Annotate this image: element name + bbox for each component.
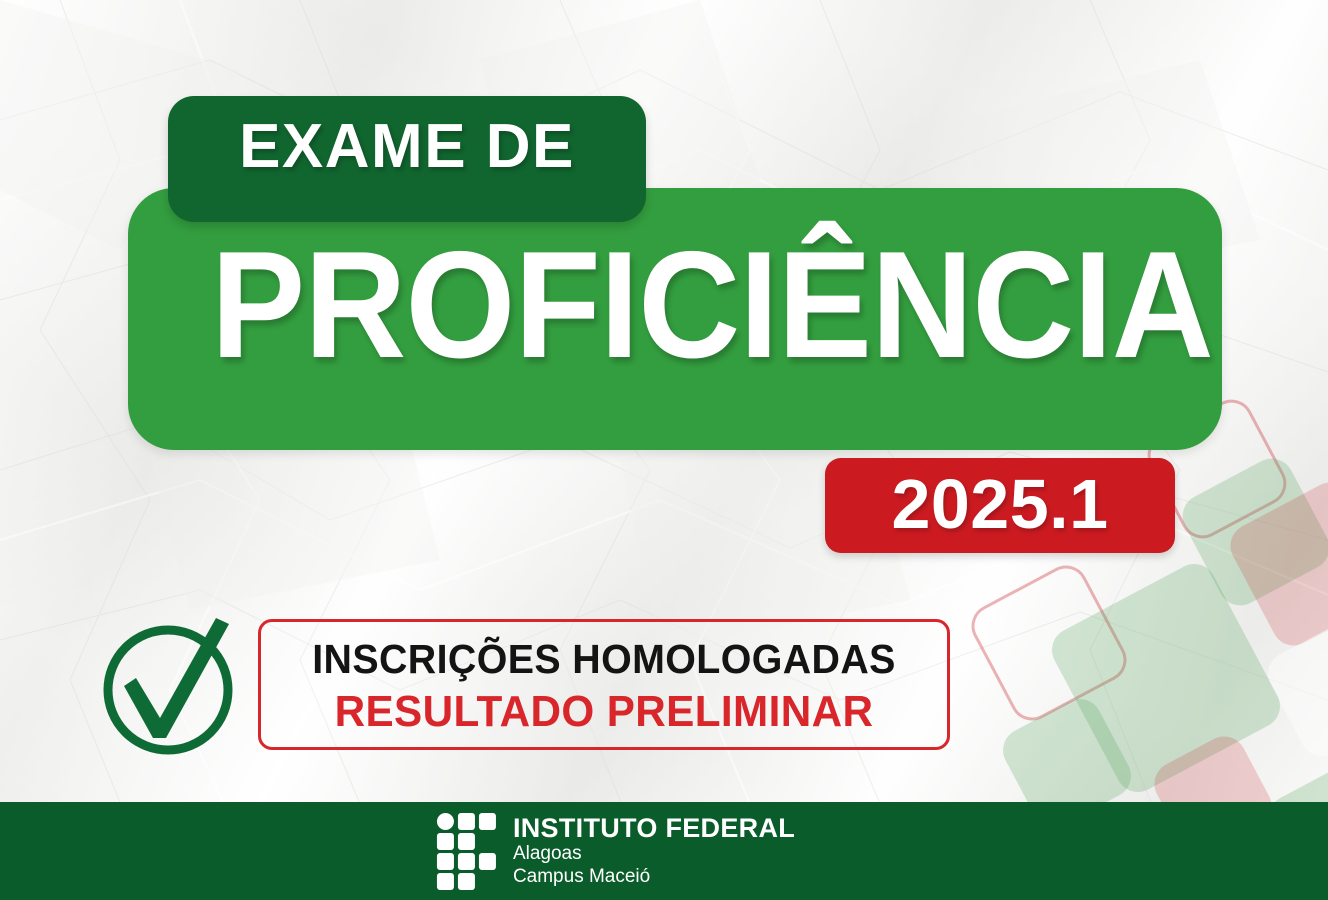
if-logo-cell-r3c0 bbox=[437, 873, 454, 890]
if-logo-cell-r0c0 bbox=[437, 813, 454, 830]
year-badge: 2025.1 bbox=[825, 458, 1175, 553]
footer-state-name: Alagoas bbox=[513, 842, 795, 865]
check-circle-icon bbox=[96, 612, 248, 762]
result-status-box: INSCRIÇÕES HOMOLOGADAS RESULTADO PRELIMI… bbox=[258, 619, 950, 750]
proficiencia-panel: PROFICIÊNCIA bbox=[128, 188, 1222, 450]
poster-title: PROFICIÊNCIA bbox=[211, 236, 1139, 376]
exame-de-label: EXAME DE bbox=[168, 116, 646, 178]
footer-bar: INSTITUTO FEDERAL Alagoas Campus Maceió bbox=[0, 802, 1328, 900]
if-logo-cell-r3c1 bbox=[458, 873, 475, 890]
poster-canvas: PROFICIÊNCIA EXAME DE 2025.1 INSCRIÇÕES … bbox=[0, 0, 1328, 900]
if-logo-cell-r0c1 bbox=[458, 813, 475, 830]
if-logo-cell-r2c2 bbox=[479, 853, 496, 870]
if-logo-cell-r1c0 bbox=[437, 833, 454, 850]
footer-institution-name: INSTITUTO FEDERAL bbox=[513, 814, 795, 842]
footer-campus-name: Campus Maceió bbox=[513, 865, 795, 888]
result-line-inscricoes: INSCRIÇÕES HOMOLOGADAS bbox=[275, 639, 934, 680]
exame-de-tab: EXAME DE bbox=[168, 96, 646, 222]
instituto-federal-logo-icon bbox=[437, 813, 497, 889]
if-logo-cell-r2c1 bbox=[458, 853, 475, 870]
result-line-preliminar: RESULTADO PRELIMINAR bbox=[275, 690, 934, 734]
if-logo-cell-r2c0 bbox=[437, 853, 454, 870]
if-logo-cell-r1c1 bbox=[458, 833, 475, 850]
footer-logo-group: INSTITUTO FEDERAL Alagoas Campus Maceió bbox=[437, 802, 795, 900]
if-logo-cell-r0c2 bbox=[479, 813, 496, 830]
year-badge-label: 2025.1 bbox=[825, 469, 1175, 539]
footer-logo-text: INSTITUTO FEDERAL Alagoas Campus Maceió bbox=[513, 814, 795, 889]
